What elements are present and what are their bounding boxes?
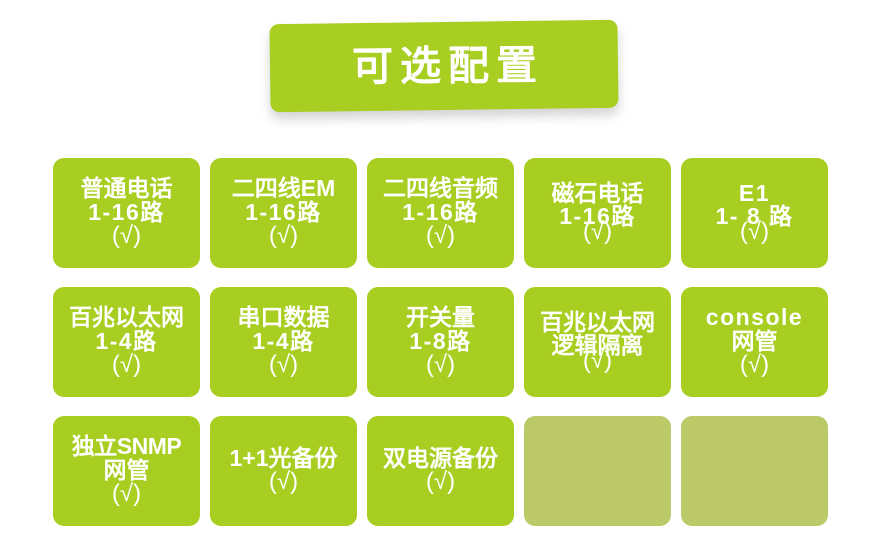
config-card-lines: 独立SNMP网管(√) xyxy=(53,435,200,506)
config-card-lines: E11- 8 路(√) xyxy=(681,182,828,244)
config-card[interactable]: 磁石电话1-16路(√) xyxy=(524,158,671,268)
config-card[interactable]: 开关量1-8路(√) xyxy=(367,287,514,397)
config-card-lines: 1+1光备份(√) xyxy=(210,447,357,495)
config-card[interactable]: 二四线音频1-16路(√) xyxy=(367,158,514,268)
config-card-checkmark: (√) xyxy=(740,220,769,244)
config-card-checkmark: (√) xyxy=(583,220,612,244)
config-card-label-line: 百兆以太网 xyxy=(69,306,184,329)
page-title: 可选配置 xyxy=(344,45,543,87)
config-card-label-line: 1-16路 xyxy=(402,201,479,224)
config-card-label-line: 1-8路 xyxy=(409,330,471,353)
config-card-label-line: console xyxy=(706,306,803,329)
config-card-lines: 串口数据1-4路(√) xyxy=(210,306,357,377)
config-card-empty xyxy=(681,416,828,526)
config-card[interactable]: 独立SNMP网管(√) xyxy=(53,416,200,526)
config-card-checkmark: (√) xyxy=(269,353,298,377)
config-card-label-line: 开关量 xyxy=(406,306,475,329)
config-card-label-line: 普通电话 xyxy=(81,177,173,200)
config-card-lines: 百兆以太网1-4路(√) xyxy=(53,306,200,377)
config-card-label-line: 网管 xyxy=(104,459,150,482)
config-card-lines: 百兆以太网逻辑隔离(√) xyxy=(524,311,671,373)
config-card-checkmark: (√) xyxy=(583,349,612,373)
title-banner: 可选配置 xyxy=(270,22,618,110)
config-card-lines: console网管(√) xyxy=(681,306,828,377)
config-card-label-line: 二四线EM xyxy=(232,177,336,200)
config-card-lines: 二四线EM1-16路(√) xyxy=(210,177,357,248)
config-card[interactable]: 二四线EM1-16路(√) xyxy=(210,158,357,268)
config-card-label-line: 1+1光备份 xyxy=(229,447,337,470)
config-card-checkmark: (√) xyxy=(269,470,298,494)
config-card-checkmark: (√) xyxy=(740,353,769,377)
config-card[interactable]: 双电源备份(√) xyxy=(367,416,514,526)
config-card-checkmark: (√) xyxy=(112,353,141,377)
config-card[interactable]: E11- 8 路(√) xyxy=(681,158,828,268)
config-card-label-line: 百兆以太网 xyxy=(540,311,655,334)
config-card-lines: 开关量1-8路(√) xyxy=(367,306,514,377)
config-card-lines: 双电源备份(√) xyxy=(367,447,514,495)
config-card-lines: 磁石电话1-16路(√) xyxy=(524,182,671,244)
config-card-label-line: 网管 xyxy=(732,330,778,353)
config-card-label-line: 1-4路 xyxy=(95,330,157,353)
config-card[interactable]: console网管(√) xyxy=(681,287,828,397)
config-card-label-line: 1-16路 xyxy=(245,201,322,224)
config-card-checkmark: (√) xyxy=(269,224,298,248)
config-card-checkmark: (√) xyxy=(426,470,455,494)
title-banner-surface: 可选配置 xyxy=(269,20,618,113)
config-card[interactable]: 普通电话1-16路(√) xyxy=(53,158,200,268)
config-card-lines: 普通电话1-16路(√) xyxy=(53,177,200,248)
config-card[interactable]: 串口数据1-4路(√) xyxy=(210,287,357,397)
config-card[interactable]: 百兆以太网1-4路(√) xyxy=(53,287,200,397)
config-card-label-line: 串口数据 xyxy=(238,306,330,329)
config-card-lines: 二四线音频1-16路(√) xyxy=(367,177,514,248)
config-card[interactable]: 百兆以太网逻辑隔离(√) xyxy=(524,287,671,397)
config-card-empty xyxy=(524,416,671,526)
config-card[interactable]: 1+1光备份(√) xyxy=(210,416,357,526)
config-card-label-line: E1 xyxy=(739,182,770,205)
config-card-label-line: 磁石电话 xyxy=(552,182,644,205)
optional-configuration-page: 可选配置 普通电话1-16路(√)二四线EM1-16路(√)二四线音频1-16路… xyxy=(0,0,880,560)
config-card-label-line: 1-16路 xyxy=(88,201,165,224)
config-card-label-line: 二四线音频 xyxy=(383,177,498,200)
config-card-label-line: 双电源备份 xyxy=(383,447,498,470)
config-card-label-line: 独立SNMP xyxy=(72,435,181,458)
configuration-card-grid: 普通电话1-16路(√)二四线EM1-16路(√)二四线音频1-16路(√)磁石… xyxy=(53,158,830,526)
config-card-checkmark: (√) xyxy=(112,482,141,506)
config-card-checkmark: (√) xyxy=(426,353,455,377)
config-card-checkmark: (√) xyxy=(426,224,455,248)
config-card-checkmark: (√) xyxy=(112,224,141,248)
config-card-label-line: 1-4路 xyxy=(252,330,314,353)
